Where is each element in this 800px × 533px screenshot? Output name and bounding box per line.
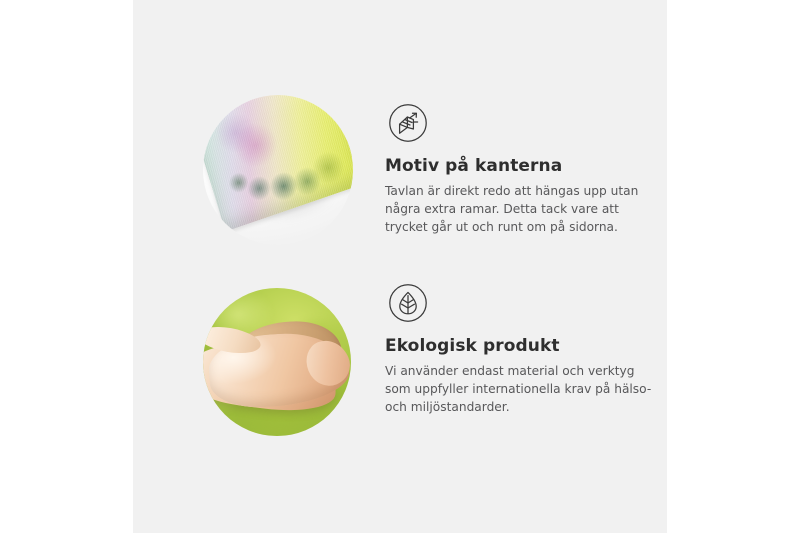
feature-block-eco: Ekologisk produkt Vi använder endast mat… — [133, 266, 667, 533]
canvas-print-edge-photo — [203, 95, 353, 245]
canvas-wrapped-edges-icon — [385, 100, 431, 146]
hands-holding-wood-chips-photo — [203, 288, 351, 436]
product-feature-graphic: Motiv på kanterna Tavlan är direkt redo … — [0, 0, 800, 533]
leaf-icon — [385, 280, 431, 326]
photo-backdrop — [203, 95, 353, 245]
feature-title: Motiv på kanterna — [385, 156, 653, 177]
feature-text-edges: Motiv på kanterna Tavlan är direkt redo … — [385, 100, 653, 237]
grass-background — [203, 288, 351, 436]
feature-text-eco: Ekologisk produkt Vi använder endast mat… — [385, 280, 657, 417]
feature-title: Ekologisk produkt — [385, 336, 657, 357]
feature-description: Vi använder endast material och verktyg … — [385, 363, 657, 417]
feature-block-edges: Motiv på kanterna Tavlan är direkt redo … — [133, 0, 667, 266]
feature-description: Tavlan är direkt redo att hängas upp uta… — [385, 183, 653, 237]
content-panel: Motiv på kanterna Tavlan är direkt redo … — [133, 0, 667, 533]
